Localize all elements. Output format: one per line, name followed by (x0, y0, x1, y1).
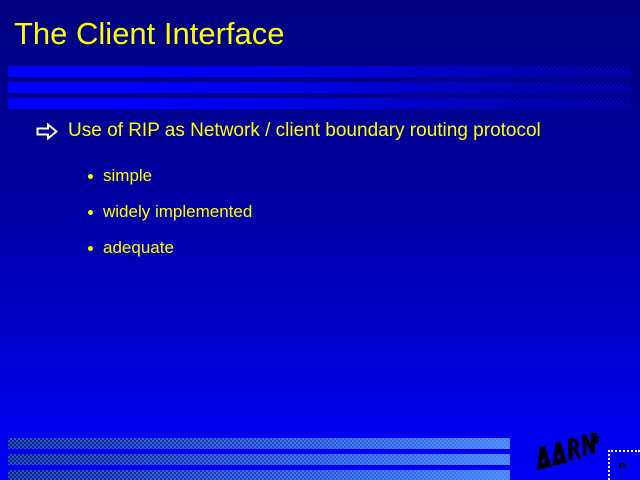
sub-bullet-text: adequate (103, 238, 174, 257)
sub-bullet-text: widely implemented (103, 202, 252, 221)
page-title: The Client Interface (14, 16, 285, 52)
decorative-bar-top-3 (8, 98, 630, 109)
sub-bullet-text: simple (103, 166, 152, 185)
round-bullet-icon (88, 246, 93, 251)
page-number-box: xx (608, 450, 640, 480)
decorative-bar-bottom-3 (8, 470, 510, 480)
decorative-bar-top-1 (8, 66, 630, 77)
aarnet-logo-icon (531, 430, 603, 472)
slide-body: Use of RIP as Network / client boundary … (0, 118, 640, 259)
round-bullet-icon (88, 210, 93, 215)
decorative-bar-bottom-1 (8, 438, 510, 449)
decorative-bar-top-2 (8, 82, 630, 93)
list-item: widely implemented (0, 201, 640, 223)
list-item: simple (0, 165, 640, 187)
list-item: adequate (0, 237, 640, 259)
decorative-bar-bottom-2 (8, 454, 510, 465)
page-number: xx (618, 460, 626, 470)
slide-canvas: The Client Interface Use of RIP as Netwo… (0, 0, 640, 480)
main-bullet-text: Use of RIP as Network / client boundary … (68, 120, 541, 141)
round-bullet-icon (88, 174, 93, 179)
right-arrow-bullet-icon (36, 122, 58, 139)
main-bullet-item: Use of RIP as Network / client boundary … (0, 118, 640, 143)
sub-bullet-list: simple widely implemented adequate (0, 165, 640, 259)
